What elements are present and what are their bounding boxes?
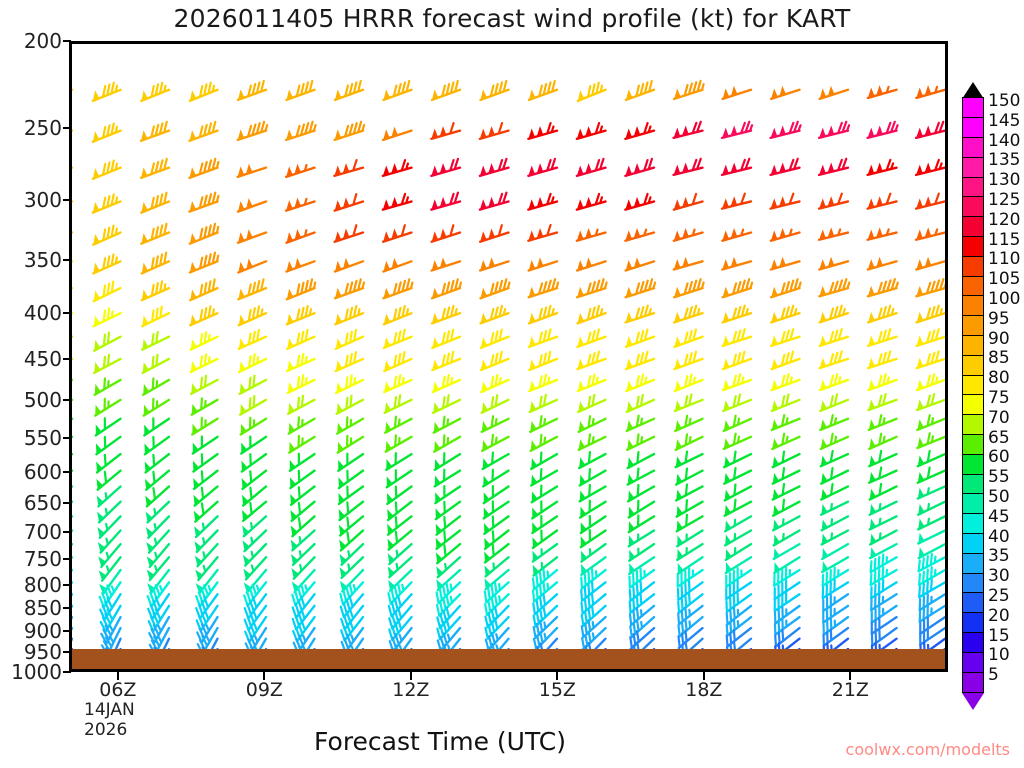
colorbar-label: 70 — [988, 408, 1010, 428]
x-tick-mark — [556, 672, 558, 680]
colorbar-bottom-arrow — [962, 693, 984, 710]
y-tick-mark — [63, 437, 71, 439]
colorbar-label: 95 — [988, 309, 1010, 329]
colorbar-swatch — [962, 454, 984, 475]
colorbar-label: 35 — [988, 546, 1010, 566]
colorbar-swatch — [962, 355, 984, 376]
colorbar-label: 110 — [988, 249, 1020, 269]
colorbar-swatch — [962, 493, 984, 514]
y-tick-mark — [63, 40, 71, 42]
colorbar-label: 130 — [988, 170, 1020, 190]
attribution-link[interactable]: coolwx.com/modelts — [846, 740, 1010, 759]
colorbar-swatch — [962, 177, 984, 198]
colorbar-swatch — [962, 335, 984, 356]
colorbar-label: 80 — [988, 368, 1010, 388]
colorbar-swatch — [962, 513, 984, 534]
colorbar-label: 90 — [988, 329, 1010, 349]
colorbar-swatch — [962, 236, 984, 257]
y-tick-mark — [63, 399, 71, 401]
colorbar-swatch — [962, 434, 984, 455]
colorbar-swatch — [962, 474, 984, 495]
y-tick-mark — [63, 502, 71, 504]
x-tick-mark — [849, 672, 851, 680]
colorbar-swatch — [962, 276, 984, 297]
y-tick-mark — [63, 127, 71, 129]
colorbar-label: 140 — [988, 131, 1020, 151]
colorbar-swatch — [962, 573, 984, 594]
colorbar-label: 20 — [988, 606, 1010, 626]
colorbar-label: 5 — [988, 665, 999, 685]
colorbar-swatch — [962, 394, 984, 415]
x-tick-mark — [703, 672, 705, 680]
y-tick-mark — [63, 584, 71, 586]
colorbar-swatch — [962, 196, 984, 217]
colorbar-label: 115 — [988, 230, 1020, 250]
colorbar-label: 85 — [988, 348, 1010, 368]
x-axis: 06Z09Z12Z15Z18Z21Z — [0, 0, 1024, 768]
colorbar-label: 45 — [988, 507, 1010, 527]
x-tick-label: 06Z — [99, 679, 136, 701]
colorbar-swatch — [962, 375, 984, 396]
colorbar-label: 10 — [988, 645, 1010, 665]
x-axis-title: Forecast Time (UTC) — [0, 727, 880, 756]
x-tick-mark — [263, 672, 265, 680]
speed-colorbar — [962, 82, 984, 710]
colorbar-swatch — [962, 533, 984, 554]
wind-profile-chart: 2026011405 HRRR forecast wind profile (k… — [0, 0, 1024, 768]
y-tick-mark — [63, 312, 71, 314]
colorbar-label: 50 — [988, 487, 1010, 507]
x-tick-label: 21Z — [832, 679, 869, 701]
colorbar-label: 150 — [988, 91, 1020, 111]
colorbar-swatch — [962, 672, 984, 693]
colorbar-swatch — [962, 414, 984, 435]
colorbar-swatch — [962, 117, 984, 138]
colorbar-label: 75 — [988, 388, 1010, 408]
colorbar-label: 125 — [988, 190, 1020, 210]
colorbar-swatch — [962, 216, 984, 237]
y-tick-mark — [63, 671, 71, 673]
date-stamp-line: 14JAN — [84, 700, 135, 720]
y-tick-mark — [63, 531, 71, 533]
x-tick-label: 15Z — [539, 679, 576, 701]
colorbar-swatch — [962, 295, 984, 316]
y-tick-mark — [63, 558, 71, 560]
colorbar-label: 120 — [988, 210, 1020, 230]
colorbar-label: 30 — [988, 566, 1010, 586]
colorbar-label: 15 — [988, 626, 1010, 646]
colorbar-swatch — [962, 652, 984, 673]
colorbar-label: 60 — [988, 447, 1010, 467]
y-tick-mark — [63, 607, 71, 609]
y-tick-mark — [63, 651, 71, 653]
colorbar-label: 55 — [988, 467, 1010, 487]
y-tick-mark — [63, 358, 71, 360]
colorbar-swatch — [962, 592, 984, 613]
y-tick-mark — [63, 199, 71, 201]
colorbar-swatch — [962, 315, 984, 336]
colorbar-label: 100 — [988, 289, 1020, 309]
colorbar-swatch — [962, 612, 984, 633]
colorbar-label: 145 — [988, 111, 1020, 131]
colorbar-swatch — [962, 553, 984, 574]
colorbar-label: 40 — [988, 527, 1010, 547]
colorbar-label: 105 — [988, 269, 1020, 289]
colorbar-swatch — [962, 157, 984, 178]
colorbar-swatch — [962, 97, 984, 118]
colorbar-label: 25 — [988, 586, 1010, 606]
x-tick-label: 12Z — [392, 679, 429, 701]
x-tick-label: 18Z — [685, 679, 722, 701]
colorbar-label: 135 — [988, 150, 1020, 170]
x-tick-label: 09Z — [246, 679, 283, 701]
x-tick-mark — [117, 672, 119, 680]
y-tick-mark — [63, 471, 71, 473]
y-tick-mark — [63, 630, 71, 632]
x-tick-mark — [410, 672, 412, 680]
colorbar-swatch — [962, 632, 984, 653]
colorbar-label: 65 — [988, 428, 1010, 448]
colorbar-swatch — [962, 137, 984, 158]
y-tick-mark — [63, 259, 71, 261]
colorbar-swatch — [962, 256, 984, 277]
